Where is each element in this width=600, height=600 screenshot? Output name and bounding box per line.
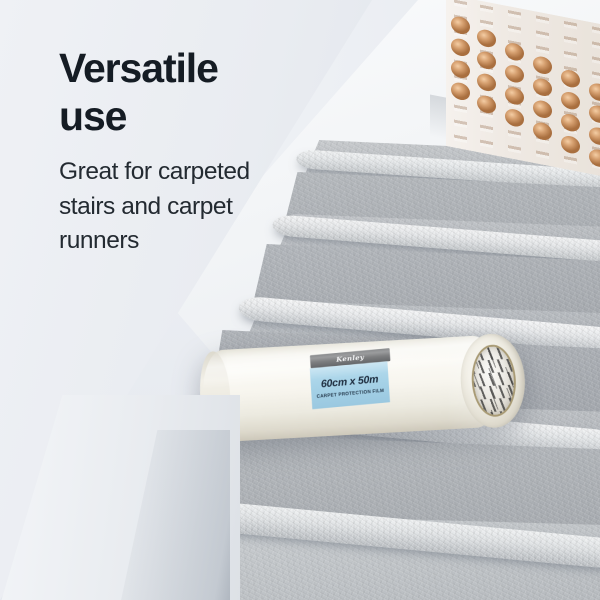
product-lifestyle-scene: Kenley 60cm x 50m CARPET PROTECTION FILM… (0, 0, 600, 600)
page-subtitle: Great for carpeted stairs and carpet run… (59, 155, 254, 259)
carpet-protection-film-roll: Kenley 60cm x 50m CARPET PROTECTION FILM (201, 333, 528, 443)
spindle-icon (564, 9, 577, 177)
spindle-icon (508, 0, 521, 169)
spindle-icon (592, 14, 600, 177)
page-title: Versatile use (59, 44, 259, 141)
roll-core-disc (472, 346, 516, 416)
wooden-spindle-balustrade (446, 0, 600, 177)
brand-name: Kenley (336, 353, 364, 364)
roll-end-face (458, 332, 527, 429)
label-size-text: 60cm x 50m (321, 373, 379, 390)
spindle-icon (480, 0, 493, 163)
spindle-icon (454, 0, 467, 158)
mesh-texture-icon (472, 346, 516, 416)
copy-block: Versatile use Great for carpeted stairs … (59, 44, 309, 259)
product-label: Kenley 60cm x 50m CARPET PROTECTION FILM (309, 348, 392, 411)
spindle-icon (536, 3, 549, 174)
label-info-panel: 60cm x 50m CARPET PROTECTION FILM (310, 361, 390, 409)
